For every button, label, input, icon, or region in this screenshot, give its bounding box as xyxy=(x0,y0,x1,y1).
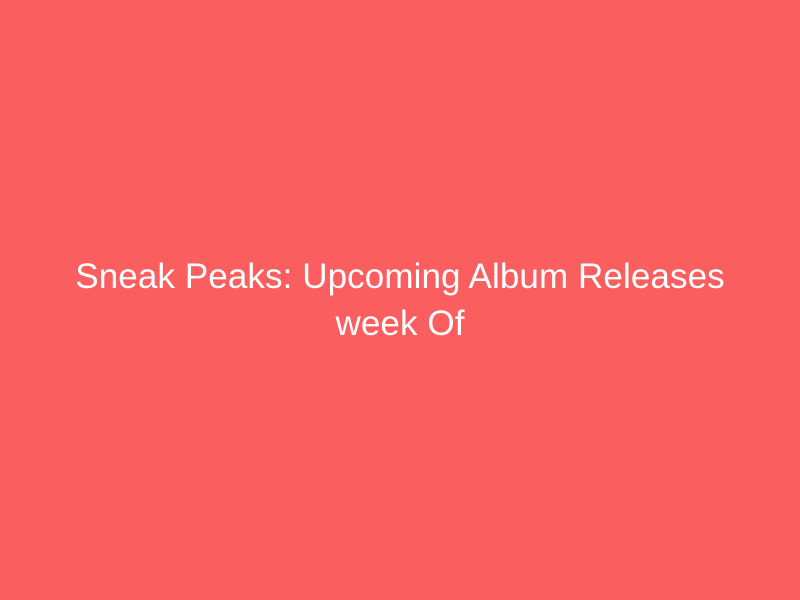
title-block: Sneak Peaks: Upcoming Album Releases wee… xyxy=(50,253,750,347)
article-thumbnail-placeholder: Sneak Peaks: Upcoming Album Releases wee… xyxy=(0,0,800,600)
placeholder-title: Sneak Peaks: Upcoming Album Releases wee… xyxy=(50,253,750,347)
